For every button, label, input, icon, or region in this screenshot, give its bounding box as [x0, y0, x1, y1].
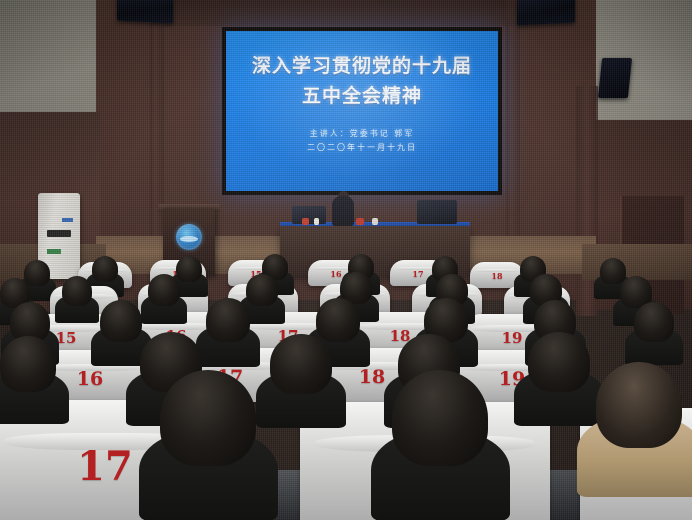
attendee-head: [148, 274, 180, 306]
attendee-head: [206, 298, 250, 342]
attendee-head: [600, 258, 626, 284]
screen-soffit: [150, 0, 520, 26]
audience-area: 1314151617181415161718191516171819161718…: [0, 250, 692, 520]
ceiling-speaker-right-icon: [517, 0, 575, 26]
projection-screen-frame: 深入学习贯彻党的十九届 五中全会精神 主讲人：党委书记 郭军 二〇二〇年十一月十…: [222, 27, 502, 195]
wall-speaker-right-icon: [598, 58, 632, 98]
seated-speaker: [332, 196, 354, 226]
attendee-head: [62, 276, 92, 306]
table-item-cup: [314, 218, 319, 225]
attendee-head: [596, 362, 682, 448]
institution-emblem-icon: [176, 224, 202, 250]
attendee-head: [0, 336, 56, 392]
slide-presenter: 主讲人：党委书记 郭军: [226, 127, 498, 141]
attendee-head: [392, 370, 488, 466]
slide-title: 深入学习贯彻党的十九届 五中全会精神: [226, 51, 498, 111]
table-item-flower: [302, 218, 309, 225]
attendee-head: [270, 334, 332, 394]
slide-title-line2: 五中全会精神: [226, 81, 498, 111]
attendee-head: [176, 256, 202, 282]
attendee-head: [634, 302, 674, 342]
attendee-head: [100, 300, 142, 342]
table-monitor-right-icon: [417, 200, 457, 224]
attendee-head: [24, 260, 50, 286]
slide-subtitle: 主讲人：党委书记 郭军 二〇二〇年十一月十九日: [226, 127, 498, 155]
attendee-head: [316, 298, 360, 342]
air-conditioner-vent-icon: [47, 230, 71, 237]
projection-screen: 深入学习贯彻党的十九届 五中全会精神 主讲人：党委书记 郭军 二〇二〇年十一月十…: [226, 31, 498, 191]
table-item-flower-2: [356, 218, 364, 225]
attendee-head: [160, 370, 256, 466]
table-item-papers: [372, 218, 378, 225]
slide-date: 二〇二〇年十一月十九日: [226, 141, 498, 155]
ceiling-speaker-left-icon: [117, 0, 173, 23]
air-conditioner-badge-icon: [62, 218, 73, 222]
attendee-head: [246, 274, 278, 306]
slide-title-line1: 深入学习贯彻党的十九届: [226, 51, 498, 81]
auditorium-photo: 深入学习贯彻党的十九届 五中全会精神 主讲人：党委书记 郭军 二〇二〇年十一月十…: [0, 0, 692, 520]
table-monitor-left-icon: [292, 206, 326, 224]
attendee-head: [528, 332, 590, 392]
attendee-head: [92, 256, 118, 282]
